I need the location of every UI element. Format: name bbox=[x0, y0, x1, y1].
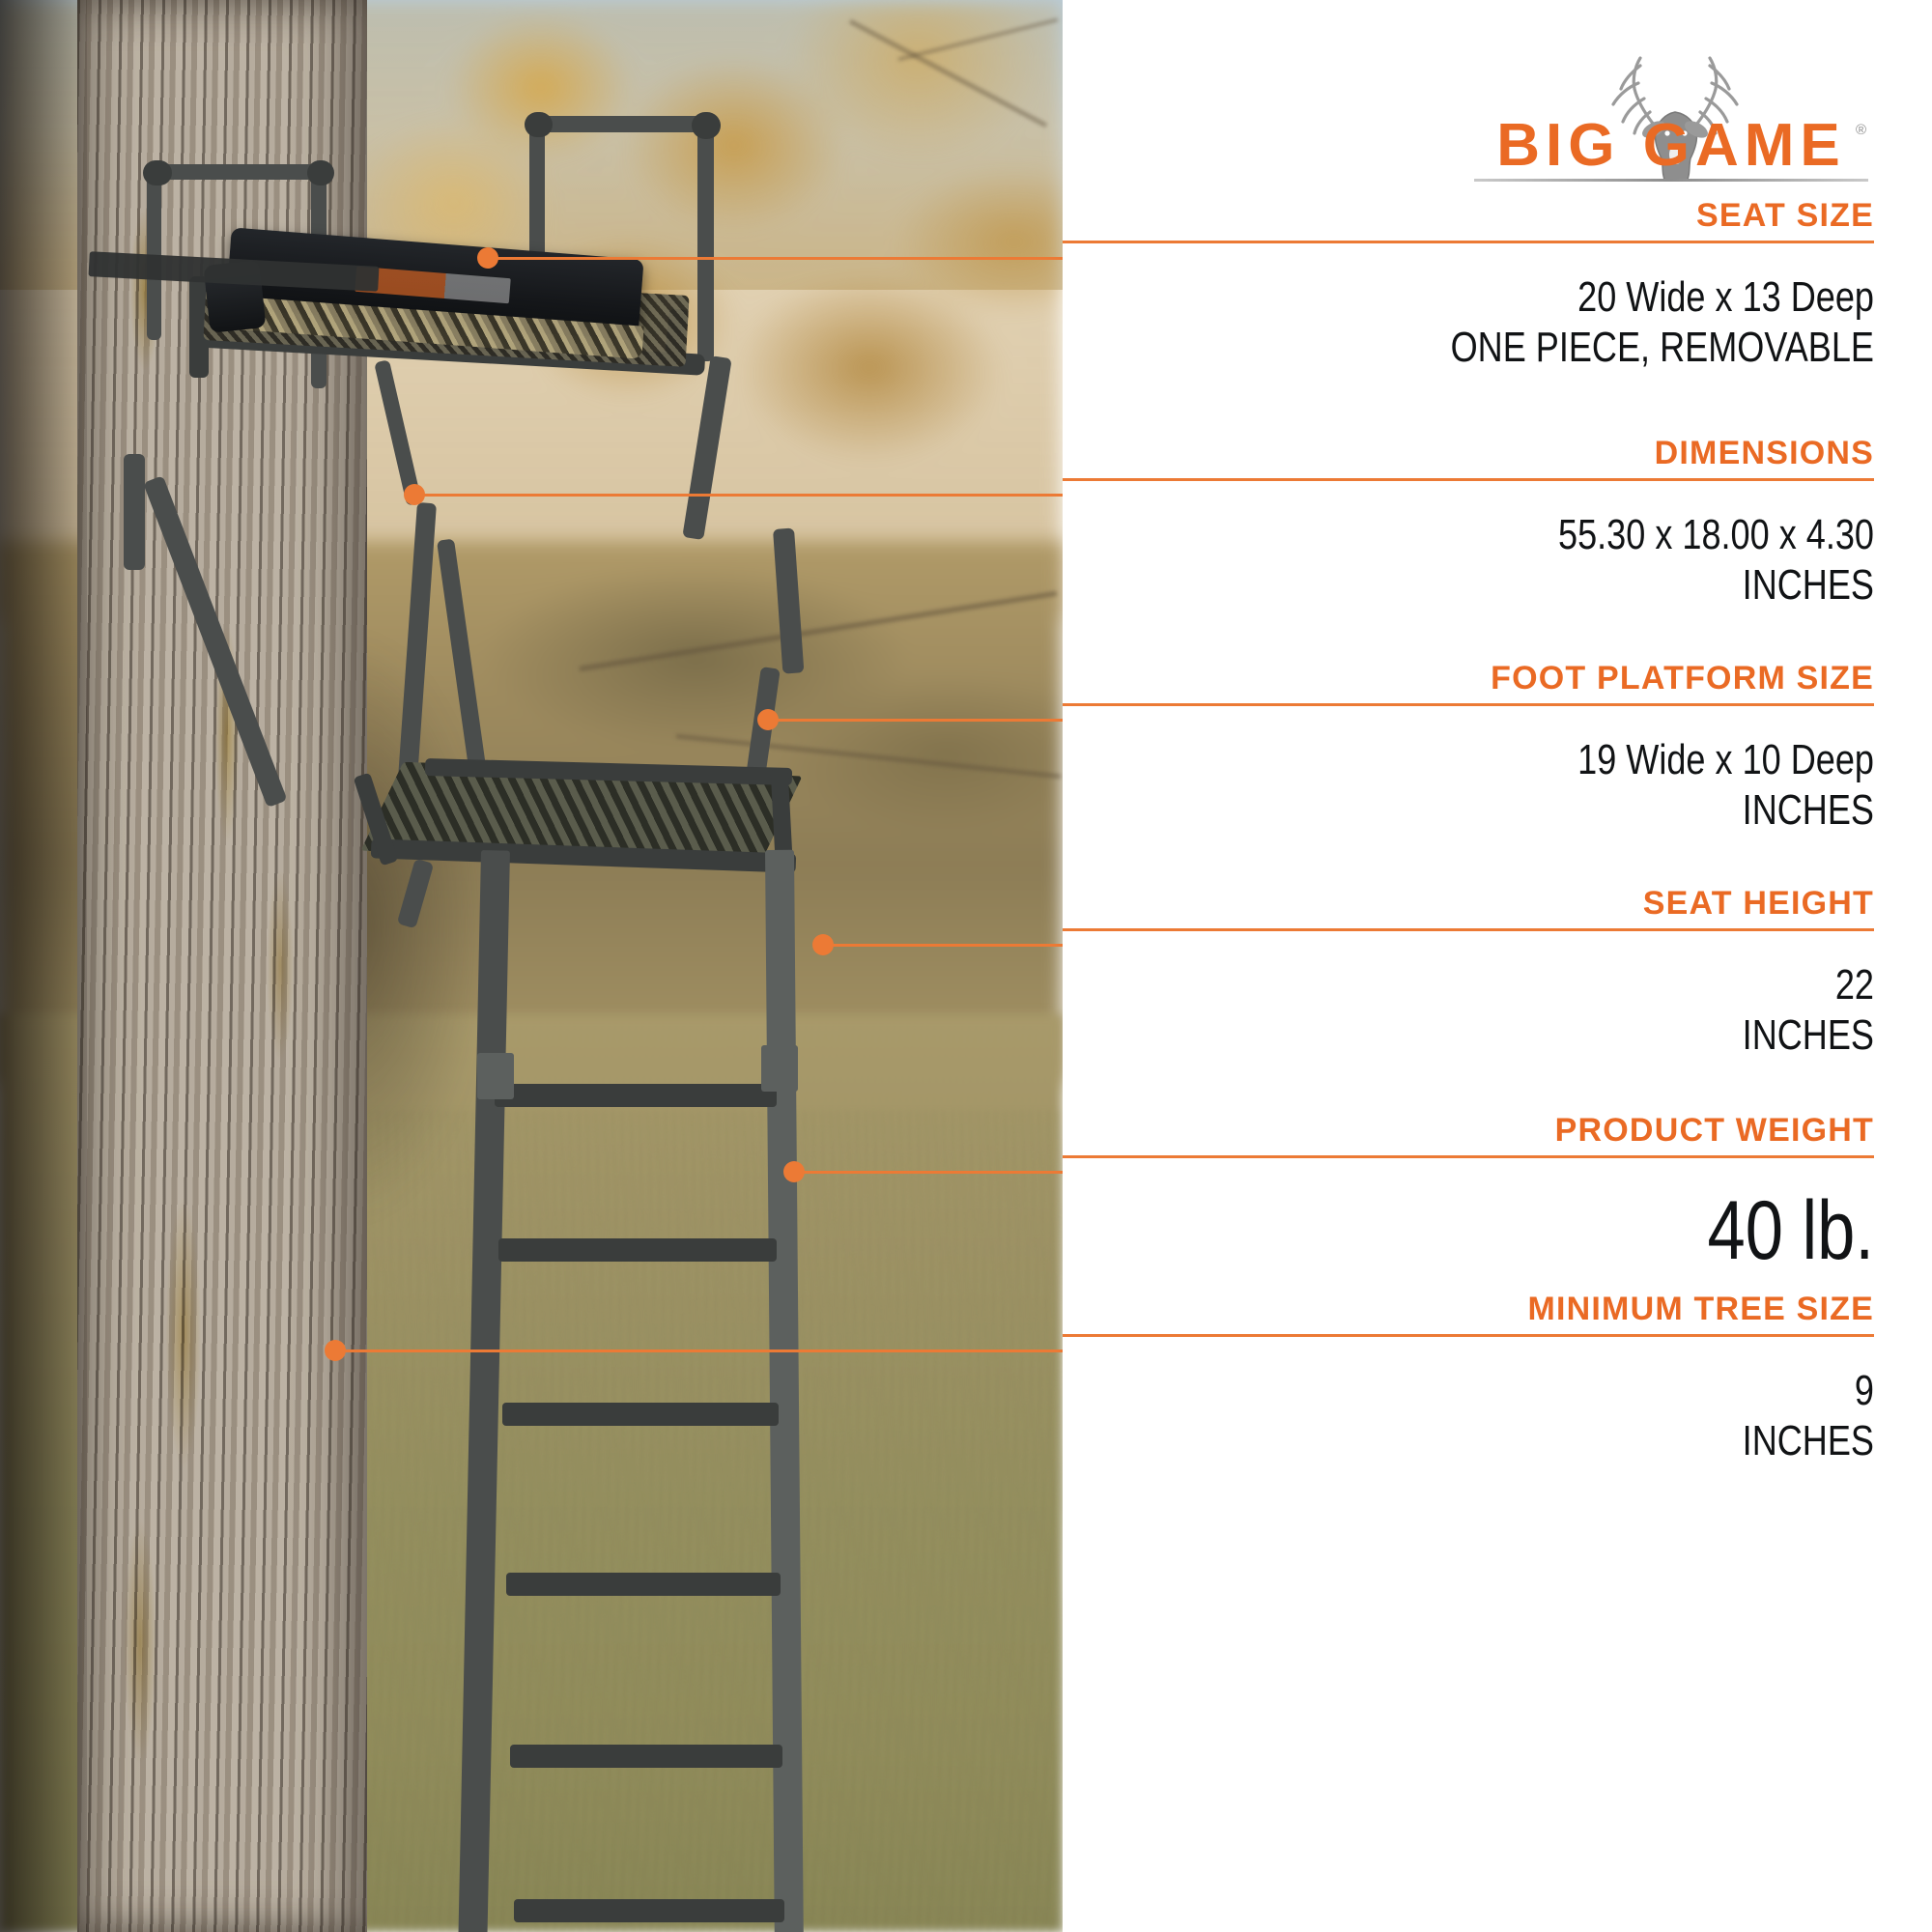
spec-rule-product-weight bbox=[1063, 1155, 1874, 1158]
product-photo bbox=[0, 0, 1063, 1932]
spec-panel: BIG GAME ® SEAT SIZE 20 Wide x 13 Deep O… bbox=[1063, 0, 1932, 1932]
spec-body-dimensions: 55.30 x 18.00 x 4.30 INCHES bbox=[1208, 510, 1874, 611]
spec-rule-dimensions bbox=[1063, 478, 1874, 481]
left-armrest-rear-post bbox=[147, 166, 161, 340]
stand-left-upright-upper bbox=[124, 454, 145, 570]
leader-line-seat-size bbox=[488, 257, 1063, 260]
spec-rule-seat-height bbox=[1063, 928, 1874, 931]
minimum-tree-size-callout-dot bbox=[325, 1340, 346, 1361]
spec-title-seat-size: SEAT SIZE bbox=[1063, 199, 1874, 234]
spec-body-minimum-tree-size: 9 INCHES bbox=[1208, 1366, 1874, 1466]
right-armrest-rail bbox=[529, 116, 713, 132]
left-armrest-rail bbox=[147, 164, 327, 180]
brand-wordmark: BIG GAME bbox=[1468, 116, 1874, 176]
spec-line: ONE PIECE, REMOVABLE bbox=[1208, 323, 1874, 373]
ladder-rung bbox=[495, 1084, 777, 1107]
spec-body-seat-size: 20 Wide x 13 Deep ONE PIECE, REMOVABLE bbox=[1208, 272, 1874, 373]
leader-line-dimensions bbox=[414, 494, 1063, 497]
ladder-rung bbox=[506, 1573, 781, 1596]
spec-body-seat-height: 22 INCHES bbox=[1208, 960, 1874, 1061]
spec-body-foot-platform-size: 19 Wide x 10 Deep INCHES bbox=[1208, 735, 1874, 836]
spec-rule-foot-platform-size bbox=[1063, 703, 1874, 706]
left-armrest-corner bbox=[307, 160, 334, 185]
spec-line: INCHES bbox=[1208, 1010, 1874, 1061]
spec-dimensions: DIMENSIONS 55.30 x 18.00 x 4.30 INCHES bbox=[1063, 437, 1874, 611]
spec-title-minimum-tree-size: MINIMUM TREE SIZE bbox=[1063, 1293, 1874, 1327]
leader-line-seat-height bbox=[823, 944, 1063, 947]
spec-title-foot-platform-size: FOOT PLATFORM SIZE bbox=[1063, 662, 1874, 696]
right-armrest-front-post bbox=[697, 120, 714, 361]
trunk-left-shadow bbox=[0, 0, 87, 1932]
right-armrest-corner bbox=[692, 112, 721, 139]
spec-title-product-weight: PRODUCT WEIGHT bbox=[1063, 1114, 1874, 1149]
leader-line-product-weight bbox=[794, 1171, 1063, 1174]
spec-line: 55.30 x 18.00 x 4.30 bbox=[1208, 510, 1874, 560]
infographic-canvas: BIG GAME ® SEAT SIZE 20 Wide x 13 Deep O… bbox=[0, 0, 1932, 1932]
brand-word-big: BIG GAME bbox=[1496, 112, 1845, 179]
spec-line: 9 bbox=[1208, 1366, 1874, 1416]
spec-line: 19 Wide x 10 Deep bbox=[1208, 735, 1874, 785]
spec-minimum-tree-size: MINIMUM TREE SIZE 9 INCHES bbox=[1063, 1293, 1874, 1466]
spec-line: INCHES bbox=[1208, 1416, 1874, 1466]
leader-line-minimum-tree-size bbox=[335, 1350, 1063, 1352]
brand-logo: BIG GAME ® bbox=[1468, 37, 1874, 182]
leader-line-foot-platform bbox=[768, 719, 1063, 722]
ladder-rung bbox=[514, 1899, 784, 1922]
spec-product-weight: PRODUCT WEIGHT 40 lb. bbox=[1063, 1114, 1874, 1274]
dimensions-callout-dot bbox=[404, 484, 425, 505]
ladder-rung bbox=[498, 1238, 777, 1262]
spec-seat-height: SEAT HEIGHT 22 INCHES bbox=[1063, 887, 1874, 1061]
product-weight-callout-dot bbox=[783, 1161, 805, 1182]
spec-seat-size: SEAT SIZE 20 Wide x 13 Deep ONE PIECE, R… bbox=[1063, 199, 1874, 373]
seat-callout-dot bbox=[477, 247, 498, 269]
registered-trademark-icon: ® bbox=[1856, 122, 1866, 138]
ladder-rung bbox=[502, 1403, 779, 1426]
ladder-section-joint bbox=[477, 1053, 514, 1099]
spec-rule-seat-size bbox=[1063, 241, 1874, 243]
spec-line: INCHES bbox=[1208, 785, 1874, 836]
spec-line: INCHES bbox=[1208, 560, 1874, 611]
spec-title-dimensions: DIMENSIONS bbox=[1063, 437, 1874, 471]
spec-rule-minimum-tree-size bbox=[1063, 1334, 1874, 1337]
spec-body-product-weight: 40 lb. bbox=[1208, 1187, 1874, 1274]
spec-line: 22 bbox=[1208, 960, 1874, 1010]
ladder-section-joint bbox=[761, 1045, 798, 1092]
spec-title-seat-height: SEAT HEIGHT bbox=[1063, 887, 1874, 922]
left-armrest-corner bbox=[143, 160, 172, 185]
spec-foot-platform-size: FOOT PLATFORM SIZE 19 Wide x 10 Deep INC… bbox=[1063, 662, 1874, 836]
logo-underline-rule bbox=[1474, 179, 1868, 182]
right-armrest-corner bbox=[525, 112, 553, 137]
seat-height-callout-dot bbox=[812, 934, 834, 955]
foot-platform-callout-dot bbox=[757, 709, 779, 730]
spec-line: 40 lb. bbox=[1208, 1187, 1874, 1274]
ladder-rung bbox=[510, 1745, 782, 1768]
spec-line: 20 Wide x 13 Deep bbox=[1208, 272, 1874, 323]
